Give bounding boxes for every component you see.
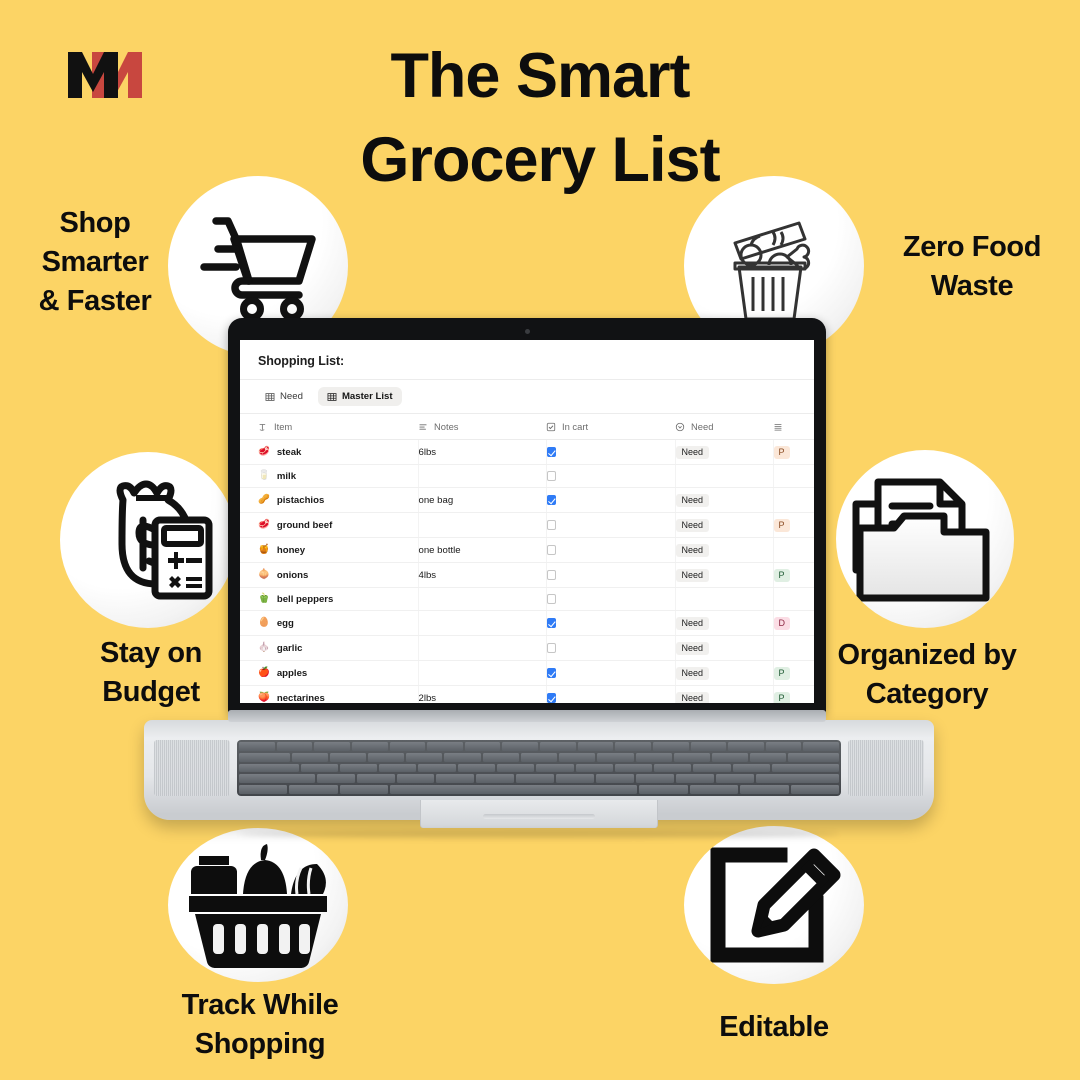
keyboard-key[interactable]	[516, 774, 554, 783]
item-emoji-icon: 🍯	[258, 545, 270, 555]
need-pill: Need	[676, 446, 710, 459]
cell-need[interactable]	[675, 588, 773, 611]
column-header-extra[interactable]	[773, 414, 814, 440]
keyboard-key[interactable]	[791, 785, 839, 794]
cell-in-cart[interactable]	[546, 611, 675, 636]
keyboard-key[interactable]	[330, 753, 366, 762]
cell-notes[interactable]: 6lbs	[418, 440, 546, 465]
keyboard-key[interactable]	[636, 774, 674, 783]
keyboard-key[interactable]	[340, 764, 377, 773]
page-title: The Smart Grocery List	[0, 34, 1080, 202]
keyboard-key[interactable]	[239, 742, 275, 751]
grocery-basket-icon	[183, 842, 333, 968]
cell-need[interactable]: Need	[675, 513, 773, 538]
keyboard-key[interactable]	[239, 753, 290, 762]
keyboard-key[interactable]	[314, 742, 350, 751]
cell-category-tag[interactable]	[773, 488, 814, 513]
speaker-grille-left	[154, 740, 230, 796]
item-name: honey	[277, 545, 305, 556]
category-tag: P	[774, 692, 790, 704]
cell-item[interactable]: 🍯honey	[240, 538, 418, 563]
column-header-item[interactable]: Item	[240, 414, 418, 440]
keyboard-key[interactable]	[712, 753, 748, 762]
keyboard-key[interactable]	[540, 742, 576, 751]
keyboard-row	[239, 774, 839, 783]
cell-item[interactable]: 🧅onions	[240, 563, 418, 588]
tab-need-label: Need	[280, 391, 303, 402]
checkbox-checked[interactable]	[547, 693, 557, 703]
cell-notes[interactable]	[418, 513, 546, 538]
cell-in-cart[interactable]	[546, 440, 675, 465]
keyboard-key[interactable]	[368, 753, 404, 762]
lines-icon	[418, 422, 428, 432]
keyboard-key[interactable]	[427, 742, 463, 751]
item-name: milk	[277, 471, 296, 482]
keyboard-row	[239, 753, 839, 762]
item-name: steak	[277, 447, 302, 458]
item-name: bell peppers	[277, 594, 334, 605]
checkbox-checked[interactable]	[547, 668, 557, 678]
keyboard-key[interactable]	[716, 774, 754, 783]
feature-badge-editable	[684, 826, 864, 984]
shopping-cart-speed-icon	[194, 207, 322, 325]
laptop-mockup: Shopping List: Need	[144, 318, 934, 834]
cell-in-cart[interactable]	[546, 588, 675, 611]
cell-category-tag[interactable]: P	[773, 513, 814, 538]
laptop-shadow	[239, 830, 839, 838]
keyboard-key[interactable]	[733, 764, 770, 773]
base-notch	[483, 814, 595, 819]
cell-need[interactable]	[675, 465, 773, 488]
cell-item[interactable]: 🥛milk	[240, 465, 418, 488]
cell-category-tag[interactable]: P	[773, 686, 814, 704]
table-row[interactable]: 🫑bell peppers	[240, 588, 814, 611]
feature-label-shop-smarter: Shop Smarter & Faster	[2, 204, 188, 321]
keyboard-key[interactable]	[239, 764, 299, 773]
table-row[interactable]: 🍎applesNeedP	[240, 661, 814, 686]
table-row[interactable]: 🥜pistachiosone bagNeed	[240, 488, 814, 513]
keyboard-row	[239, 785, 839, 794]
feature-label-track-shopping: Track While Shopping	[148, 986, 372, 1064]
keyboard-key[interactable]	[639, 785, 687, 794]
keyboard-key[interactable]	[536, 764, 573, 773]
tab-master-list-label: Master List	[342, 391, 393, 402]
cell-in-cart[interactable]	[546, 563, 675, 588]
headline-line-1: The Smart	[0, 34, 1080, 118]
table-row[interactable]: 🥛milk	[240, 465, 814, 488]
food-waste-trash-icon	[713, 205, 835, 327]
column-header-item-label: Item	[274, 421, 292, 432]
cell-notes[interactable]	[418, 611, 546, 636]
checkbox-unchecked[interactable]	[547, 643, 557, 653]
laptop-base-body	[144, 720, 934, 820]
table-row[interactable]: 🧅onions4lbsNeedP	[240, 563, 814, 588]
item-emoji-icon: 🥩	[258, 447, 270, 457]
need-pill: Need	[676, 519, 710, 532]
need-pill: Need	[676, 494, 710, 507]
keyboard-key[interactable]	[390, 785, 637, 794]
feature-label-zero-waste: Zero Food Waste	[872, 228, 1072, 306]
table-icon	[327, 392, 337, 402]
item-emoji-icon: 🥚	[258, 618, 270, 628]
keyboard-key[interactable]	[674, 753, 710, 762]
keyboard-key[interactable]	[740, 785, 788, 794]
checkbox-unchecked[interactable]	[547, 520, 557, 530]
need-pill: Need	[676, 617, 710, 630]
keyboard-key[interactable]	[292, 753, 328, 762]
category-tag: P	[774, 446, 790, 459]
laptop-screen: Shopping List: Need	[240, 340, 814, 703]
table-row[interactable]: 🥚eggNeedD	[240, 611, 814, 636]
cell-need[interactable]: Need	[675, 611, 773, 636]
cell-notes[interactable]	[418, 588, 546, 611]
keyboard-key[interactable]	[690, 785, 738, 794]
checkbox-checked[interactable]	[547, 447, 557, 457]
keyboard-key[interactable]	[596, 774, 634, 783]
cell-notes[interactable]	[418, 636, 546, 661]
view-tabbar: Need Master List	[240, 379, 814, 413]
keyboard-key[interactable]	[693, 764, 730, 773]
keyboard-row	[239, 764, 839, 773]
grocery-list-app: Shopping List: Need	[240, 340, 814, 703]
item-emoji-icon: 🥛	[258, 471, 270, 481]
grocery-table: Item	[240, 413, 814, 703]
keyboard-key[interactable]	[576, 764, 613, 773]
keyboard-key[interactable]	[653, 742, 689, 751]
headline-line-2: Grocery List	[0, 118, 1080, 202]
keyboard-key[interactable]	[766, 742, 802, 751]
column-header-need[interactable]: Need	[675, 414, 773, 440]
cell-need[interactable]: Need	[675, 661, 773, 686]
item-name: garlic	[277, 643, 303, 654]
title-text-icon	[258, 422, 268, 432]
speaker-grille-right	[848, 740, 924, 796]
laptop-base	[144, 710, 934, 834]
need-pill: Need	[676, 642, 710, 655]
keyboard-key[interactable]	[390, 742, 426, 751]
column-header-in-cart-label: In cart	[562, 421, 588, 432]
checkbox-unchecked[interactable]	[547, 570, 557, 580]
laptop-lid: Shopping List: Need	[228, 318, 826, 714]
keyboard-key[interactable]	[772, 764, 839, 773]
cell-item[interactable]: 🥩ground beef	[240, 513, 418, 538]
keyboard-key[interactable]	[476, 774, 514, 783]
keyboard-key[interactable]	[277, 742, 313, 751]
checkbox-unchecked[interactable]	[547, 545, 557, 555]
keyboard-key[interactable]	[406, 753, 442, 762]
keyboard-key[interactable]	[465, 742, 501, 751]
keyboard-key[interactable]	[239, 785, 287, 794]
keyboard-key[interactable]	[340, 785, 388, 794]
keyboard-key[interactable]	[483, 753, 519, 762]
need-pill: Need	[676, 667, 710, 680]
cell-item[interactable]: 🥩steak	[240, 440, 418, 465]
checkbox-checked[interactable]	[547, 495, 557, 505]
keyboard[interactable]	[237, 740, 841, 796]
cell-item[interactable]: 🫑bell peppers	[240, 588, 418, 611]
column-header-notes[interactable]: Notes	[418, 414, 546, 440]
item-emoji-icon: 🍑	[258, 693, 270, 703]
item-name: ground beef	[277, 520, 332, 531]
table-row[interactable]: 🧄garlicNeed	[240, 636, 814, 661]
table-row[interactable]: 🍑nectarines2lbsNeedP	[240, 686, 814, 704]
column-header-need-label: Need	[691, 421, 713, 432]
cell-category-tag[interactable]: P	[773, 661, 814, 686]
keyboard-key[interactable]	[458, 764, 495, 773]
cell-need[interactable]: Need	[675, 686, 773, 704]
cell-notes[interactable]: 4lbs	[418, 563, 546, 588]
table-icon	[265, 392, 275, 402]
item-name: pistachios	[277, 495, 324, 506]
item-name: onions	[277, 570, 308, 581]
table-header-row: Item	[240, 414, 814, 440]
keyboard-key[interactable]	[239, 774, 315, 783]
cell-item[interactable]: 🥜pistachios	[240, 488, 418, 513]
laptop-hinge	[228, 710, 826, 722]
cell-notes[interactable]	[418, 661, 546, 686]
cell-category-tag[interactable]	[773, 538, 814, 563]
checkbox-icon	[546, 422, 556, 432]
checkbox-unchecked[interactable]	[547, 471, 557, 481]
keyboard-key[interactable]	[559, 753, 595, 762]
cell-in-cart[interactable]	[546, 636, 675, 661]
tab-need[interactable]: Need	[256, 387, 312, 406]
keyboard-key[interactable]	[788, 753, 839, 762]
checkbox-checked[interactable]	[547, 618, 557, 628]
need-pill: Need	[676, 692, 710, 704]
keyboard-key[interactable]	[301, 764, 338, 773]
table-body: 🥩steak6lbsNeedP🥛milk🥜pistachiosone bagNe…	[240, 440, 814, 704]
webcam-dot	[525, 329, 530, 334]
item-emoji-icon: 🧅	[258, 570, 270, 580]
checkbox-unchecked[interactable]	[547, 594, 557, 604]
app-title: Shopping List:	[240, 354, 814, 379]
category-tag: P	[774, 667, 790, 680]
column-header-in-cart[interactable]: In cart	[546, 414, 675, 440]
cell-need[interactable]: Need	[675, 636, 773, 661]
cell-in-cart[interactable]	[546, 465, 675, 488]
category-tag: P	[774, 569, 790, 582]
cell-category-tag[interactable]: P	[773, 563, 814, 588]
cell-notes[interactable]: one bottle	[418, 538, 546, 563]
cell-need[interactable]: Need	[675, 563, 773, 588]
cell-category-tag[interactable]	[773, 465, 814, 488]
keyboard-key[interactable]	[357, 774, 395, 783]
keyboard-key[interactable]	[352, 742, 388, 751]
table-row[interactable]: 🍯honeyone bottleNeed	[240, 538, 814, 563]
table-row[interactable]: 🥩steak6lbsNeedP	[240, 440, 814, 465]
keyboard-key[interactable]	[654, 764, 691, 773]
cell-category-tag[interactable]: P	[773, 440, 814, 465]
cell-need[interactable]: Need	[675, 538, 773, 563]
need-pill: Need	[676, 569, 710, 582]
item-name: nectarines	[277, 693, 325, 704]
pencil-edit-square-icon	[704, 837, 844, 973]
keyboard-key[interactable]	[728, 742, 764, 751]
keyboard-key[interactable]	[502, 742, 538, 751]
item-name: apples	[277, 668, 307, 679]
keyboard-key[interactable]	[597, 753, 633, 762]
keyboard-key[interactable]	[444, 753, 480, 762]
keyboard-key[interactable]	[691, 742, 727, 751]
item-emoji-icon: 🥜	[258, 495, 270, 505]
cell-in-cart[interactable]	[546, 538, 675, 563]
keyboard-key[interactable]	[317, 774, 355, 783]
item-emoji-icon: 🧄	[258, 643, 270, 653]
cell-in-cart[interactable]	[546, 488, 675, 513]
cell-item[interactable]: 🥚egg	[240, 611, 418, 636]
keyboard-row	[239, 742, 839, 751]
item-emoji-icon: 🥩	[258, 520, 270, 530]
cell-in-cart[interactable]	[546, 686, 675, 704]
item-emoji-icon: 🫑	[258, 594, 270, 604]
keyboard-key[interactable]	[676, 774, 714, 783]
category-tag: D	[774, 617, 791, 630]
cell-notes[interactable]: 2lbs	[418, 686, 546, 704]
keyboard-key[interactable]	[756, 774, 839, 783]
cell-item[interactable]: 🍑nectarines	[240, 686, 418, 704]
tab-master-list[interactable]: Master List	[318, 387, 402, 406]
keyboard-key[interactable]	[436, 774, 474, 783]
cell-in-cart[interactable]	[546, 513, 675, 538]
keyboard-key[interactable]	[615, 764, 652, 773]
column-header-notes-label: Notes	[434, 421, 459, 432]
keyboard-key[interactable]	[578, 742, 614, 751]
cell-need[interactable]: Need	[675, 488, 773, 513]
feature-label-editable: Editable	[672, 1008, 876, 1047]
feature-badge-track-shopping	[168, 828, 348, 982]
select-circle-icon	[675, 422, 685, 432]
keyboard-key[interactable]	[521, 753, 557, 762]
cell-need[interactable]: Need	[675, 440, 773, 465]
cell-category-tag[interactable]	[773, 588, 814, 611]
table-row[interactable]: 🥩ground beefNeedP	[240, 513, 814, 538]
keyboard-key[interactable]	[636, 753, 672, 762]
multiselect-list-icon	[773, 422, 783, 432]
cell-category-tag[interactable]	[773, 636, 814, 661]
item-emoji-icon: 🍎	[258, 668, 270, 678]
keyboard-key[interactable]	[750, 753, 786, 762]
keyboard-key[interactable]	[379, 764, 416, 773]
keyboard-key[interactable]	[803, 742, 839, 751]
cell-item[interactable]: 🍎apples	[240, 661, 418, 686]
item-name: egg	[277, 618, 294, 629]
keyboard-key[interactable]	[615, 742, 651, 751]
keyboard-key[interactable]	[556, 774, 594, 783]
need-pill: Need	[676, 544, 710, 557]
category-tag: P	[774, 519, 790, 532]
cell-in-cart[interactable]	[546, 661, 675, 686]
keyboard-key[interactable]	[418, 764, 455, 773]
cell-notes[interactable]: one bag	[418, 488, 546, 513]
cell-category-tag[interactable]: D	[773, 611, 814, 636]
keyboard-key[interactable]	[497, 764, 534, 773]
cell-notes[interactable]	[418, 465, 546, 488]
promo-canvas: The Smart Grocery List Shop	[0, 0, 1080, 1080]
keyboard-key[interactable]	[397, 774, 435, 783]
cell-item[interactable]: 🧄garlic	[240, 636, 418, 661]
keyboard-key[interactable]	[289, 785, 337, 794]
